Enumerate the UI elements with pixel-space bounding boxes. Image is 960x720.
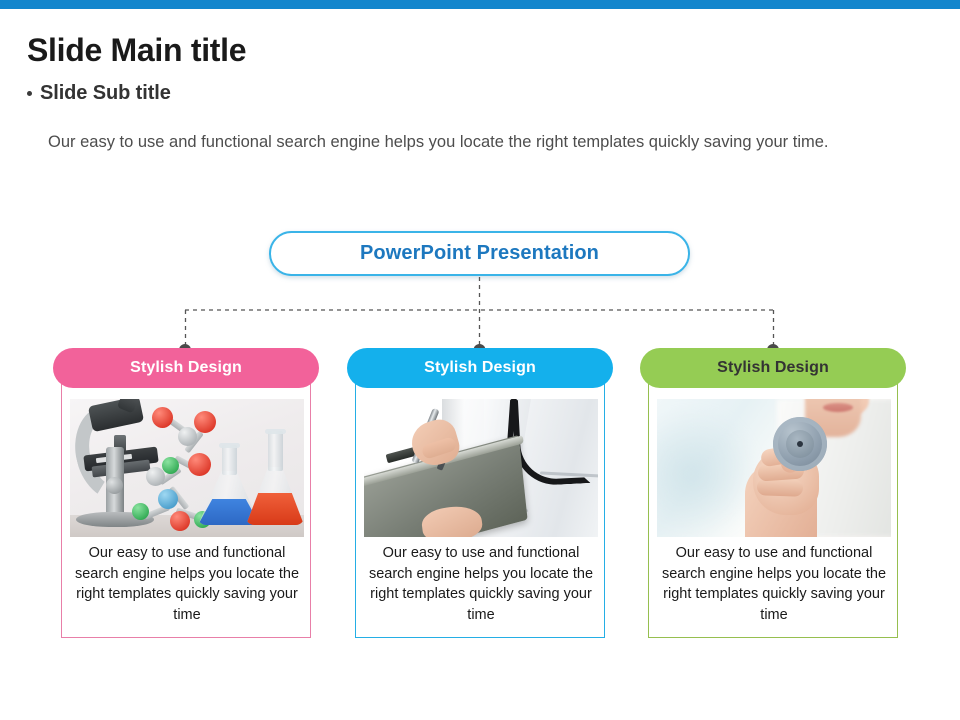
card-header-label: Stylish Design: [130, 359, 242, 377]
lead-paragraph: Our easy to use and functional search en…: [48, 130, 878, 155]
doctor-writing-on-clipboard-photo: [364, 399, 598, 537]
card-header[interactable]: Stylish Design: [640, 348, 906, 388]
card-body-text: Our easy to use and functional search en…: [72, 543, 302, 625]
laboratory-microscope-molecule-flasks-photo: [70, 399, 304, 537]
card-header[interactable]: Stylish Design: [53, 348, 319, 388]
slide-subtitle: Slide Sub title: [27, 82, 171, 105]
root-node-label: PowerPoint Presentation: [360, 242, 599, 265]
bullet-icon: [27, 91, 32, 96]
card-header[interactable]: Stylish Design: [347, 348, 613, 388]
hand-holding-stethoscope-photo: [657, 399, 891, 537]
page-title: Slide Main title: [27, 32, 246, 69]
card-body: Our easy to use and functional search en…: [648, 362, 898, 638]
top-accent-bar: [0, 0, 960, 9]
card-body-text: Our easy to use and functional search en…: [659, 543, 889, 625]
card-header-label: Stylish Design: [717, 359, 829, 377]
card-body: Our easy to use and functional search en…: [61, 362, 311, 638]
card-stylish-design-2[interactable]: Our easy to use and functional search en…: [355, 348, 605, 638]
card-stylish-design-1[interactable]: Our easy to use and functional search en…: [61, 348, 311, 638]
slide-canvas: Slide Main title Slide Sub title Our eas…: [0, 0, 960, 720]
card-body: Our easy to use and functional search en…: [355, 362, 605, 638]
card-body-text: Our easy to use and functional search en…: [366, 543, 596, 625]
root-node[interactable]: PowerPoint Presentation: [269, 231, 690, 276]
card-header-label: Stylish Design: [424, 359, 536, 377]
card-stylish-design-3[interactable]: Our easy to use and functional search en…: [648, 348, 898, 638]
slide-subtitle-label: Slide Sub title: [40, 82, 171, 105]
